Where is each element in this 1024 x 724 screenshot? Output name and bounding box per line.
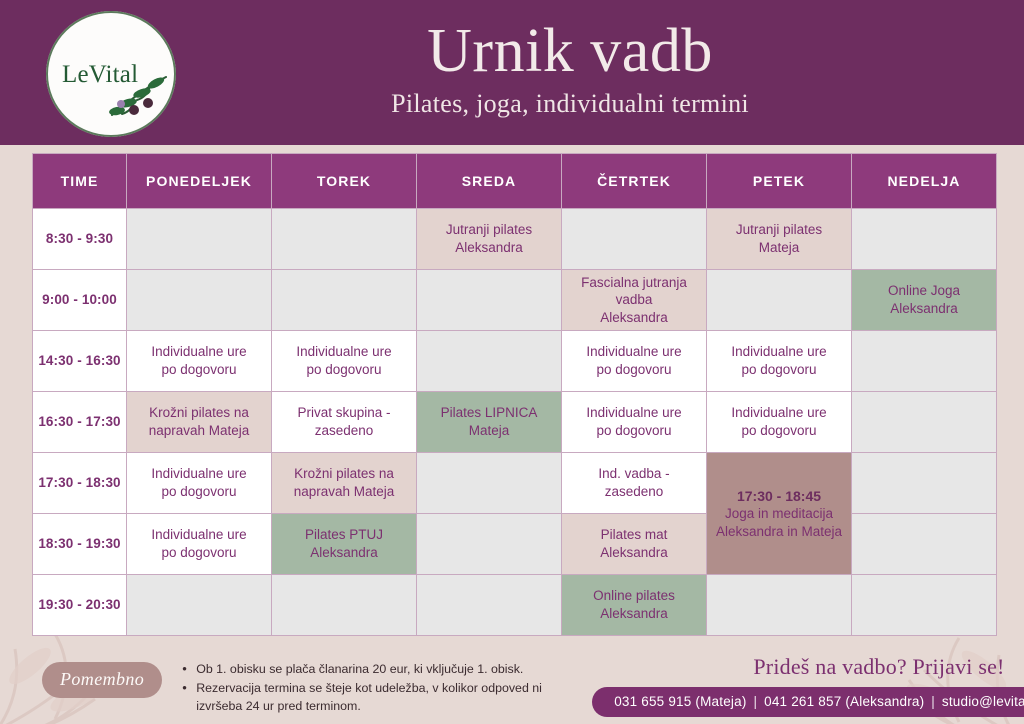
schedule-cell-class[interactable]: Individualne urepo dogovoru	[127, 514, 271, 574]
contact-item[interactable]: studio@levital.si	[942, 694, 1024, 709]
page-subtitle: Pilates, joga, individualni termini	[116, 86, 1024, 121]
time-slot-label: 8:30 - 9:30	[33, 209, 126, 269]
class-name-label: Ind. vadba -	[566, 465, 702, 483]
page-title: Urnik vadb	[116, 20, 1024, 82]
contact-bar[interactable]: 031 655 915 (Mateja) | 041 261 857 (Alek…	[592, 687, 1024, 717]
olive-branch-icon	[104, 73, 170, 123]
column-header-time: TIME	[33, 154, 126, 208]
class-instructor-label: po dogovoru	[131, 361, 267, 379]
schedule-cell-empty	[272, 575, 416, 635]
schedule-cell-empty	[852, 514, 996, 574]
class-instructor-label: po dogovoru	[711, 422, 847, 440]
class-name-label: Joga in meditacija	[711, 505, 847, 523]
contact-separator: |	[747, 694, 765, 709]
schedule-cell-class[interactable]: Pilates matAleksandra	[562, 514, 706, 574]
column-header-nedelja: NEDELJA	[852, 154, 996, 208]
schedule-row: 19:30 - 20:30Online pilatesAleksandra	[33, 575, 996, 635]
class-name-label: Individualne ure	[131, 526, 267, 544]
schedule-cell-empty	[417, 331, 561, 391]
contact-separator: |	[924, 694, 942, 709]
column-header-četrtek: ČETRTEK	[562, 154, 706, 208]
contact-item[interactable]: 031 655 915 (Mateja)	[614, 694, 746, 709]
schedule-cell-class[interactable]: Individualne urepo dogovoru	[707, 392, 851, 452]
page-footer: Pomembno Ob 1. obisku se plača članarina…	[0, 644, 1024, 724]
column-header-torek: TOREK	[272, 154, 416, 208]
note-item: Rezervacija termina se šteje kot udeležb…	[182, 679, 582, 716]
class-name-label: Pilates PTUJ	[276, 526, 412, 544]
schedule-cell-class[interactable]: Individualne urepo dogovoru	[272, 331, 416, 391]
class-time-label: 17:30 - 18:45	[711, 487, 847, 505]
class-instructor-label: po dogovoru	[131, 483, 267, 501]
schedule-row: 17:30 - 18:30Individualne urepo dogovoru…	[33, 453, 996, 513]
class-instructor-label: po dogovoru	[566, 422, 702, 440]
time-slot-label: 17:30 - 18:30	[33, 453, 126, 513]
schedule-cell-class[interactable]: Ind. vadba -zasedeno	[562, 453, 706, 513]
schedule-cell-class[interactable]: Individualne urepo dogovoru	[127, 331, 271, 391]
schedule-container: TIMEPONEDELJEKTOREKSREDAČETRTEKPETEKNEDE…	[32, 153, 992, 636]
schedule-cell-empty	[417, 270, 561, 330]
schedule-cell-empty	[127, 270, 271, 330]
class-name-label: Krožni pilates na	[276, 465, 412, 483]
schedule-cell-empty	[852, 453, 996, 513]
schedule-cell-empty	[272, 209, 416, 269]
schedule-cell-empty	[417, 575, 561, 635]
schedule-cell-empty	[852, 392, 996, 452]
schedule-cell-empty	[417, 453, 561, 513]
important-notes-group: Pomembno Ob 1. obisku se plača članarina…	[42, 654, 582, 716]
class-name-label: Individualne ure	[566, 343, 702, 361]
schedule-row: 9:00 - 10:00Fascialna jutranja vadbaAlek…	[33, 270, 996, 330]
class-instructor-label: napravah Mateja	[131, 422, 267, 440]
schedule-cell-class[interactable]: Pilates PTUJAleksandra	[272, 514, 416, 574]
brand-logo: LeVital	[46, 11, 176, 137]
class-instructor-label: po dogovoru	[711, 361, 847, 379]
important-badge: Pomembno	[42, 662, 162, 698]
class-instructor-label: zasedeno	[276, 422, 412, 440]
class-instructor-label: Aleksandra	[566, 544, 702, 562]
schedule-cell-class[interactable]: Online pilatesAleksandra	[562, 575, 706, 635]
class-name-label: Pilates LIPNICA	[421, 404, 557, 422]
schedule-cell-empty	[562, 209, 706, 269]
schedule-cell-class[interactable]: Krožni pilates nanapravah Mateja	[272, 453, 416, 513]
schedule-cell-class[interactable]: Jutranji pilatesMateja	[707, 209, 851, 269]
note-item: Ob 1. obisku se plača članarina 20 eur, …	[182, 660, 582, 679]
schedule-row: 14:30 - 16:30Individualne urepo dogovoru…	[33, 331, 996, 391]
class-instructor-label: Aleksandra	[856, 300, 992, 318]
schedule-cell-empty	[852, 575, 996, 635]
time-slot-label: 14:30 - 16:30	[33, 331, 126, 391]
class-instructor-label: Aleksandra	[566, 309, 702, 327]
schedule-row: 8:30 - 9:30Jutranji pilatesAleksandraJut…	[33, 209, 996, 269]
class-instructor-label: Aleksandra	[566, 605, 702, 623]
class-name-label: Privat skupina -	[276, 404, 412, 422]
schedule-row: 16:30 - 17:30Krožni pilates nanapravah M…	[33, 392, 996, 452]
schedule-cell-empty	[707, 575, 851, 635]
schedule-cell-empty	[852, 331, 996, 391]
schedule-cell-empty	[707, 270, 851, 330]
class-instructor-label: po dogovoru	[566, 361, 702, 379]
schedule-cell-empty	[852, 209, 996, 269]
column-header-petek: PETEK	[707, 154, 851, 208]
schedule-cell-class[interactable]: Jutranji pilatesAleksandra	[417, 209, 561, 269]
column-header-sreda: SREDA	[417, 154, 561, 208]
class-instructor-label: zasedeno	[566, 483, 702, 501]
schedule-cell-class[interactable]: Online JogaAleksandra	[852, 270, 996, 330]
schedule-cell-class[interactable]: Pilates LIPNICAMateja	[417, 392, 561, 452]
class-name-label: Online Joga	[856, 282, 992, 300]
class-name-label: Individualne ure	[276, 343, 412, 361]
class-instructor-label: po dogovoru	[276, 361, 412, 379]
schedule-cell-empty	[272, 270, 416, 330]
class-name-label: Krožni pilates na	[131, 404, 267, 422]
schedule-table: TIMEPONEDELJEKTOREKSREDAČETRTEKPETEKNEDE…	[32, 153, 997, 636]
schedule-cell-class[interactable]: Fascialna jutranja vadbaAleksandra	[562, 270, 706, 330]
page-header: LeVital Urnik vadb Pilates, joga, indivi…	[0, 0, 1024, 145]
class-instructor-label: napravah Mateja	[276, 483, 412, 501]
schedule-cell-empty	[417, 514, 561, 574]
title-block: Urnik vadb Pilates, joga, individualni t…	[116, 20, 1024, 125]
class-name-label: Individualne ure	[566, 404, 702, 422]
class-name-label: Fascialna jutranja vadba	[566, 274, 702, 309]
class-name-label: Jutranji pilates	[421, 221, 557, 239]
time-slot-label: 16:30 - 17:30	[33, 392, 126, 452]
schedule-cell-class[interactable]: Individualne urepo dogovoru	[707, 331, 851, 391]
schedule-cell-class[interactable]: Individualne urepo dogovoru	[127, 453, 271, 513]
class-name-label: Individualne ure	[711, 404, 847, 422]
time-slot-label: 19:30 - 20:30	[33, 575, 126, 635]
schedule-cell-class[interactable]: Individualne urepo dogovoru	[562, 331, 706, 391]
schedule-row: 18:30 - 19:30Individualne urepo dogovoru…	[33, 514, 996, 574]
class-name-label: Individualne ure	[131, 343, 267, 361]
class-instructor-label: Aleksandra	[421, 239, 557, 257]
class-name-label: Jutranji pilates	[711, 221, 847, 239]
cta-group: Prideš na vadbo? Prijavi se! 031 655 915…	[592, 654, 1024, 717]
class-name-label: Pilates mat	[566, 526, 702, 544]
column-header-ponedeljek: PONEDELJEK	[127, 154, 271, 208]
notes-list: Ob 1. obisku se plača članarina 20 eur, …	[182, 660, 582, 716]
contact-item[interactable]: 041 261 857 (Aleksandra)	[764, 694, 924, 709]
schedule-cell-class[interactable]: 17:30 - 18:45Joga in meditacijaAleksandr…	[707, 453, 851, 574]
schedule-cell-empty	[127, 575, 271, 635]
class-name-label: Online pilates	[566, 587, 702, 605]
time-slot-label: 18:30 - 19:30	[33, 514, 126, 574]
time-slot-label: 9:00 - 10:00	[33, 270, 126, 330]
class-instructor-label: Mateja	[421, 422, 557, 440]
class-instructor-label: Aleksandra	[276, 544, 412, 562]
schedule-cell-class[interactable]: Krožni pilates nanapravah Mateja	[127, 392, 271, 452]
class-instructor-label: Mateja	[711, 239, 847, 257]
schedule-cell-class[interactable]: Privat skupina -zasedeno	[272, 392, 416, 452]
class-instructor-label: Aleksandra in Mateja	[711, 523, 847, 541]
schedule-cell-class[interactable]: Individualne urepo dogovoru	[562, 392, 706, 452]
schedule-header-row: TIMEPONEDELJEKTOREKSREDAČETRTEKPETEKNEDE…	[33, 154, 996, 208]
cta-title: Prideš na vadbo? Prijavi se!	[753, 654, 1004, 680]
class-name-label: Individualne ure	[131, 465, 267, 483]
class-instructor-label: po dogovoru	[131, 544, 267, 562]
schedule-cell-empty	[127, 209, 271, 269]
class-name-label: Individualne ure	[711, 343, 847, 361]
